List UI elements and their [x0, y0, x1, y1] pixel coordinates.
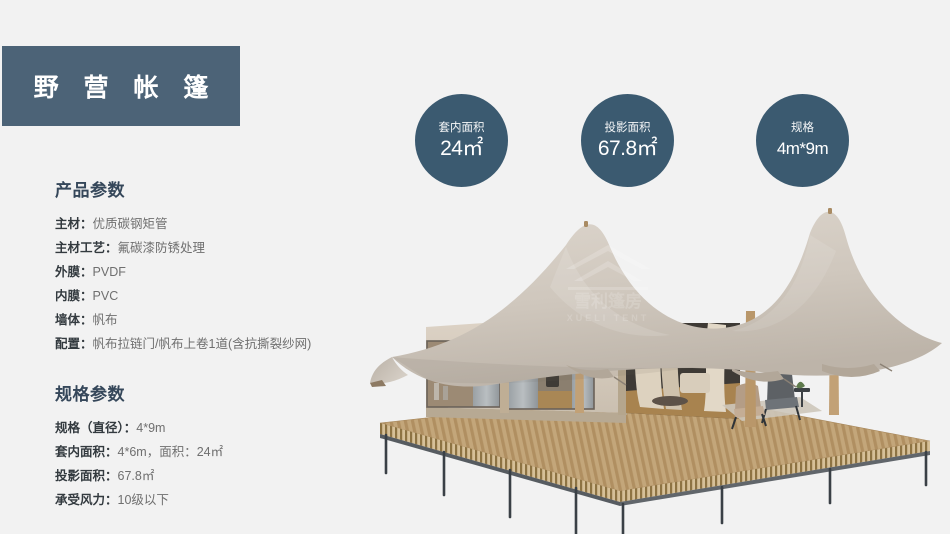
- badge-value: 24㎡: [440, 136, 483, 161]
- spec-value: 67.8㎡: [118, 469, 155, 483]
- page-title-banner: 野 营 帐 篷: [2, 46, 240, 126]
- spec-params-heading: 规格参数: [55, 380, 385, 405]
- badge-label: 规格: [791, 121, 814, 135]
- stat-badge-dimensions: 规格 4m*9m: [756, 94, 849, 187]
- spec-label: 外膜：: [55, 265, 93, 279]
- spec-value: 4*9m: [136, 421, 165, 435]
- spec-value: 帆布: [93, 313, 118, 327]
- product-spec-page: 野 营 帐 篷 产品参数 主材：优质碳钢矩管 主材工艺：氟碳漆防锈处理 外膜：P…: [0, 0, 950, 534]
- product-params-heading: 产品参数: [55, 176, 385, 201]
- spec-params-group: 规格参数 规格（直径）：4*9m 套内面积：4*6m，面积：24㎡ 投影面积：6…: [55, 380, 385, 512]
- spec-label: 主材：: [55, 217, 93, 231]
- spec-row: 墙体：帆布: [55, 308, 385, 332]
- spec-label: 主材工艺：: [55, 241, 118, 255]
- spec-label: 内膜：: [55, 289, 93, 303]
- spec-value: 优质碳钢矩管: [93, 217, 168, 231]
- spec-label: 规格（直径）：: [55, 421, 136, 435]
- spec-row: 套内面积：4*6m，面积：24㎡: [55, 440, 385, 464]
- spec-row: 外膜：PVDF: [55, 260, 385, 284]
- spec-label: 墙体：: [55, 313, 93, 327]
- spec-row: 承受风力：10级以下: [55, 488, 385, 512]
- spec-label: 承受风力：: [55, 493, 118, 507]
- spec-label: 配置：: [55, 337, 93, 351]
- tent-canopy: [370, 208, 942, 387]
- badge-label: 投影面积: [605, 121, 651, 135]
- badge-label: 套内面积: [439, 121, 485, 135]
- watermark-en-text: XUELI TENT: [567, 313, 650, 323]
- spec-row: 主材工艺：氟碳漆防锈处理: [55, 236, 385, 260]
- tent-illustration: 雪利篷房 XUELI TENT: [370, 195, 950, 534]
- spec-value: 氟碳漆防锈处理: [118, 241, 206, 255]
- stat-badge-interior-area: 套内面积 24㎡: [415, 94, 508, 187]
- spec-row: 规格（直径）：4*9m: [55, 416, 385, 440]
- spec-row: 主材：优质碳钢矩管: [55, 212, 385, 236]
- spec-value: PVC: [93, 289, 119, 303]
- stat-badge-projected-area: 投影面积 67.8㎡: [581, 94, 674, 187]
- spec-value: PVDF: [93, 265, 126, 279]
- spec-label: 投影面积：: [55, 469, 118, 483]
- watermark-cn-text: 雪利篷房: [574, 291, 642, 311]
- spec-value: 4*6m，面积：24㎡: [118, 445, 224, 459]
- badge-value: 4m*9m: [777, 136, 828, 161]
- spec-row: 内膜：PVC: [55, 284, 385, 308]
- spec-value: 10级以下: [118, 493, 169, 507]
- spec-value: 帆布拉链门/帆布上卷1道(含抗撕裂纱网): [93, 337, 312, 351]
- page-title: 野 营 帐 篷: [25, 68, 218, 104]
- spec-row: 投影面积：67.8㎡: [55, 464, 385, 488]
- badge-value: 67.8㎡: [598, 136, 657, 161]
- spec-row: 配置：帆布拉链门/帆布上卷1道(含抗撕裂纱网): [55, 332, 385, 356]
- spec-column: 产品参数 主材：优质碳钢矩管 主材工艺：氟碳漆防锈处理 外膜：PVDF 内膜：P…: [55, 176, 385, 512]
- spec-label: 套内面积：: [55, 445, 118, 459]
